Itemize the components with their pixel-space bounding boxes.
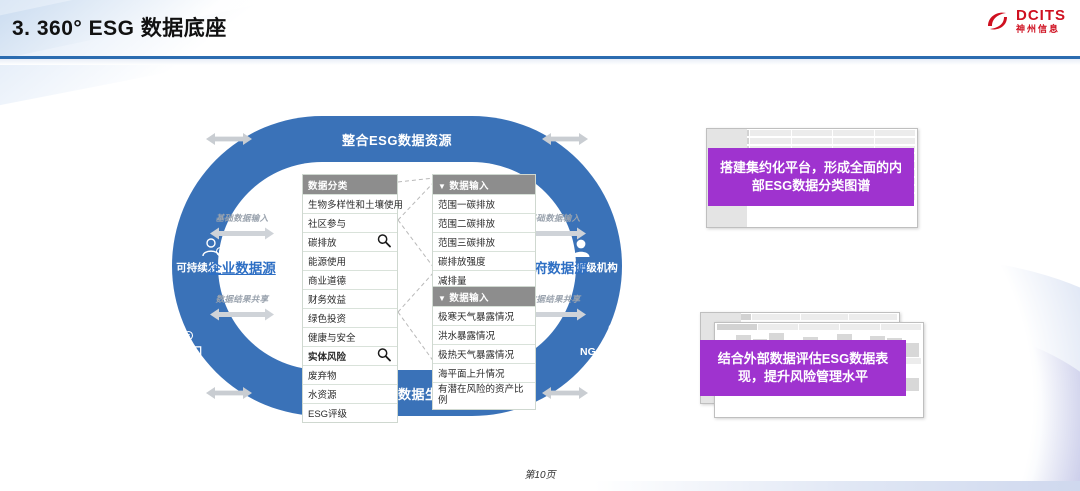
screenshot-row <box>715 323 923 331</box>
table-input-physical-risk: ▼数据输入 极寒天气暴露情况 洪水暴露情况 极热天气暴露情况 海平面上升情况 有… <box>432 286 536 410</box>
magnifier-icon[interactable] <box>377 234 391 251</box>
table-row[interactable]: 极寒天气暴露情况 <box>433 306 535 325</box>
table-row[interactable]: 实体风险 <box>303 346 397 365</box>
page-number: 第10页 <box>0 466 1080 481</box>
table-row[interactable]: 海平面上升情况 <box>433 363 535 382</box>
table-row[interactable]: 生物多样性和土壤使用 <box>303 194 397 213</box>
title-divider-shadow <box>0 59 1080 65</box>
node-label: 风险部门 <box>160 346 202 358</box>
table-row[interactable]: ESG评级 <box>303 403 397 422</box>
logo-text-cn: 神州信息 <box>1016 25 1066 34</box>
row-label: 碳排放 <box>308 238 337 249</box>
table-row[interactable]: 废弃物 <box>303 365 397 384</box>
callout-text: 结合外部数据评估ESG数据表现，提升风险管理水平 <box>708 350 898 386</box>
table-row[interactable]: 碳排放 <box>303 232 397 251</box>
slide-canvas: 3. 360° ESG 数据底座 DCITS 神州信息 整合ESG数据资源 <box>0 0 1080 491</box>
double-arrow-icon <box>206 132 252 146</box>
callout-text: 搭建集约化平台，形成全面的内部ESG数据分类图谱 <box>716 159 906 195</box>
person-icon <box>570 394 656 418</box>
table-row[interactable]: 社区参与 <box>303 213 397 232</box>
table-input-carbon: ▼数据输入 范围一碳排放 范围二碳排放 范围三碳排放 碳排放强度 减排量 <box>432 174 536 290</box>
table-row[interactable]: 范围二碳排放 <box>433 213 535 232</box>
table-header-label: 数据输入 <box>449 181 489 192</box>
node-label: 政府数据据 <box>587 418 640 430</box>
caret-down-icon[interactable]: ▼ <box>438 182 446 191</box>
person-icon: $ <box>138 394 224 418</box>
node-left-3[interactable]: $ 投资部门 <box>138 394 224 431</box>
table-row[interactable]: 水资源 <box>303 384 397 403</box>
enterprise-source-column: 基础数据输入 企业数据源 数据结果共享 <box>190 212 294 335</box>
table-data-classification: 数据分类 生物多样性和土壤使用 社区参与 碳排放 能源使用 商业道德 财务效益 … <box>302 174 398 423</box>
logo-text-en: DCITS <box>1016 8 1066 23</box>
double-arrow-icon <box>542 132 588 146</box>
page-title: 3. 360° ESG 数据底座 <box>12 12 227 42</box>
flow-label-out: 数据结果共享 <box>190 293 294 305</box>
dcits-swirl-icon <box>985 8 1011 34</box>
callout-box-2: 结合外部数据评估ESG数据表现，提升风险管理水平 <box>700 340 906 396</box>
company-logo: DCITS 神州信息 <box>985 8 1066 34</box>
table-row[interactable]: 碳排放强度 <box>433 251 535 270</box>
band-top-label: 整合ESG数据资源 <box>342 130 452 149</box>
callout-box-1: 搭建集约化平台，形成全面的内部ESG数据分类图谱 <box>708 148 914 206</box>
table-row[interactable]: 健康与安全 <box>303 327 397 346</box>
flow-label-in: 基础数据输入 <box>190 212 294 224</box>
svg-text:$: $ <box>219 486 223 491</box>
double-arrow-icon <box>190 308 294 326</box>
table-row[interactable]: 范围一碳排放 <box>433 194 535 213</box>
table-row[interactable]: 洪水暴露情况 <box>433 325 535 344</box>
table-row[interactable]: 财务效益 <box>303 289 397 308</box>
table-row[interactable]: 有潜在风险的资产比例 <box>433 382 535 409</box>
double-arrow-icon <box>190 227 294 245</box>
node-label: NGO监测数据 <box>580 346 646 358</box>
table-row[interactable]: 绿色投资 <box>303 308 397 327</box>
table-row[interactable]: 范围三碳排放 <box>433 232 535 251</box>
band-top: 整合ESG数据资源 <box>268 116 526 162</box>
table-row[interactable]: 能源使用 <box>303 251 397 270</box>
node-right-3[interactable]: 政府数据据 <box>570 394 656 431</box>
table-row[interactable]: 极热天气暴露情况 <box>433 344 535 363</box>
table-header: 数据分类 <box>303 175 397 194</box>
row-label: 实体风险 <box>308 352 346 363</box>
table-row[interactable]: 商业道德 <box>303 270 397 289</box>
node-label: 投资部门 <box>160 418 202 430</box>
table-header: ▼数据输入 <box>433 175 535 194</box>
caret-down-icon[interactable]: ▼ <box>438 294 446 303</box>
table-header: ▼数据输入 <box>433 287 535 306</box>
magnifier-icon[interactable] <box>377 348 391 365</box>
enterprise-source-label: 企业数据源 <box>190 257 294 277</box>
table-header-label: 数据输入 <box>449 293 489 304</box>
